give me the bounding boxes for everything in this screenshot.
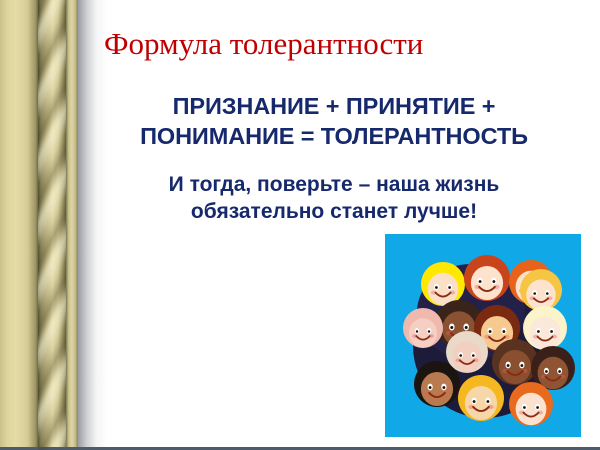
pupil-right: [465, 326, 468, 329]
face-skin: [421, 372, 453, 406]
pupil-left: [507, 364, 510, 367]
pupil-left: [545, 370, 548, 373]
closing-line-2: обязательно станет лучше!: [88, 199, 580, 226]
pupil-left: [537, 330, 540, 333]
face-skin: [471, 266, 503, 300]
face-yellow-hair-girl: [421, 262, 465, 306]
closing-line-1: И тогда, поверьте – наша жизнь: [88, 172, 580, 199]
formula-line-2: ПОНИМАНИЕ = ТОЛЕРАНТНОСТЬ: [88, 122, 580, 152]
face-pale-pink-girl: [403, 308, 443, 348]
pupil-right: [546, 292, 549, 295]
pupil-left: [489, 330, 492, 333]
pupil-left: [533, 292, 536, 295]
face-tan-freckles-boy: [446, 331, 488, 373]
pupil-left: [450, 326, 453, 329]
face-blond-boy: [520, 269, 562, 311]
pupil-right: [472, 354, 475, 357]
face-skin: [465, 386, 497, 420]
pupil-left: [435, 286, 438, 289]
pupil-left: [429, 386, 432, 389]
pupil-right: [492, 280, 495, 283]
face-skin: [530, 317, 561, 350]
children-faces-svg: [385, 234, 581, 437]
pupil-right: [448, 286, 451, 289]
children-faces-illustration: [385, 234, 581, 437]
pupil-left: [479, 280, 482, 283]
pupil-right: [536, 406, 539, 409]
face-skin: [538, 357, 569, 390]
face-auburn-bun-girl: [464, 255, 510, 301]
face-skin: [516, 393, 547, 426]
face-black-hair-girl: [414, 361, 460, 407]
tolerance-formula-text: ПРИЗНАНИЕ + ПРИНЯТИЕ + ПОНИМАНИЕ = ТОЛЕР…: [88, 92, 580, 151]
face-skin: [409, 318, 437, 348]
closing-statement-text: И тогда, поверьте – наша жизнь обязатель…: [88, 172, 580, 226]
column-outer-band: [0, 0, 38, 450]
decorative-gold-column-border: [0, 0, 84, 450]
face-yellow-hood-boy: [458, 375, 504, 421]
formula-line-1: ПРИЗНАНИЕ + ПРИНЯТИЕ +: [88, 92, 580, 122]
column-inner-band: [66, 0, 78, 450]
pupil-right: [486, 400, 489, 403]
face-skin: [452, 341, 481, 372]
face-brown-skin-girl: [492, 339, 538, 385]
pupil-right: [442, 386, 445, 389]
pupil-right: [428, 330, 430, 332]
pupil-right: [520, 364, 523, 367]
face-white-fluffy-girl: [523, 306, 567, 350]
face-orange-hood-boy: [509, 382, 553, 426]
pupil-left: [473, 400, 476, 403]
pupil-right: [502, 330, 505, 333]
face-skin: [526, 279, 555, 310]
face-skin: [428, 273, 459, 306]
column-twisted-shaft: [38, 0, 66, 450]
pupil-right: [558, 370, 561, 373]
slide-title: Формула толерантности: [88, 27, 600, 60]
face-skin: [499, 350, 531, 384]
pupil-left: [416, 330, 418, 332]
pupil-left: [459, 354, 462, 357]
pupil-right: [550, 330, 553, 333]
faces-group: [403, 255, 575, 426]
presentation-slide: Формула толерантности ПРИЗНАНИЕ + ПРИНЯТ…: [0, 0, 600, 450]
pupil-left: [523, 406, 526, 409]
